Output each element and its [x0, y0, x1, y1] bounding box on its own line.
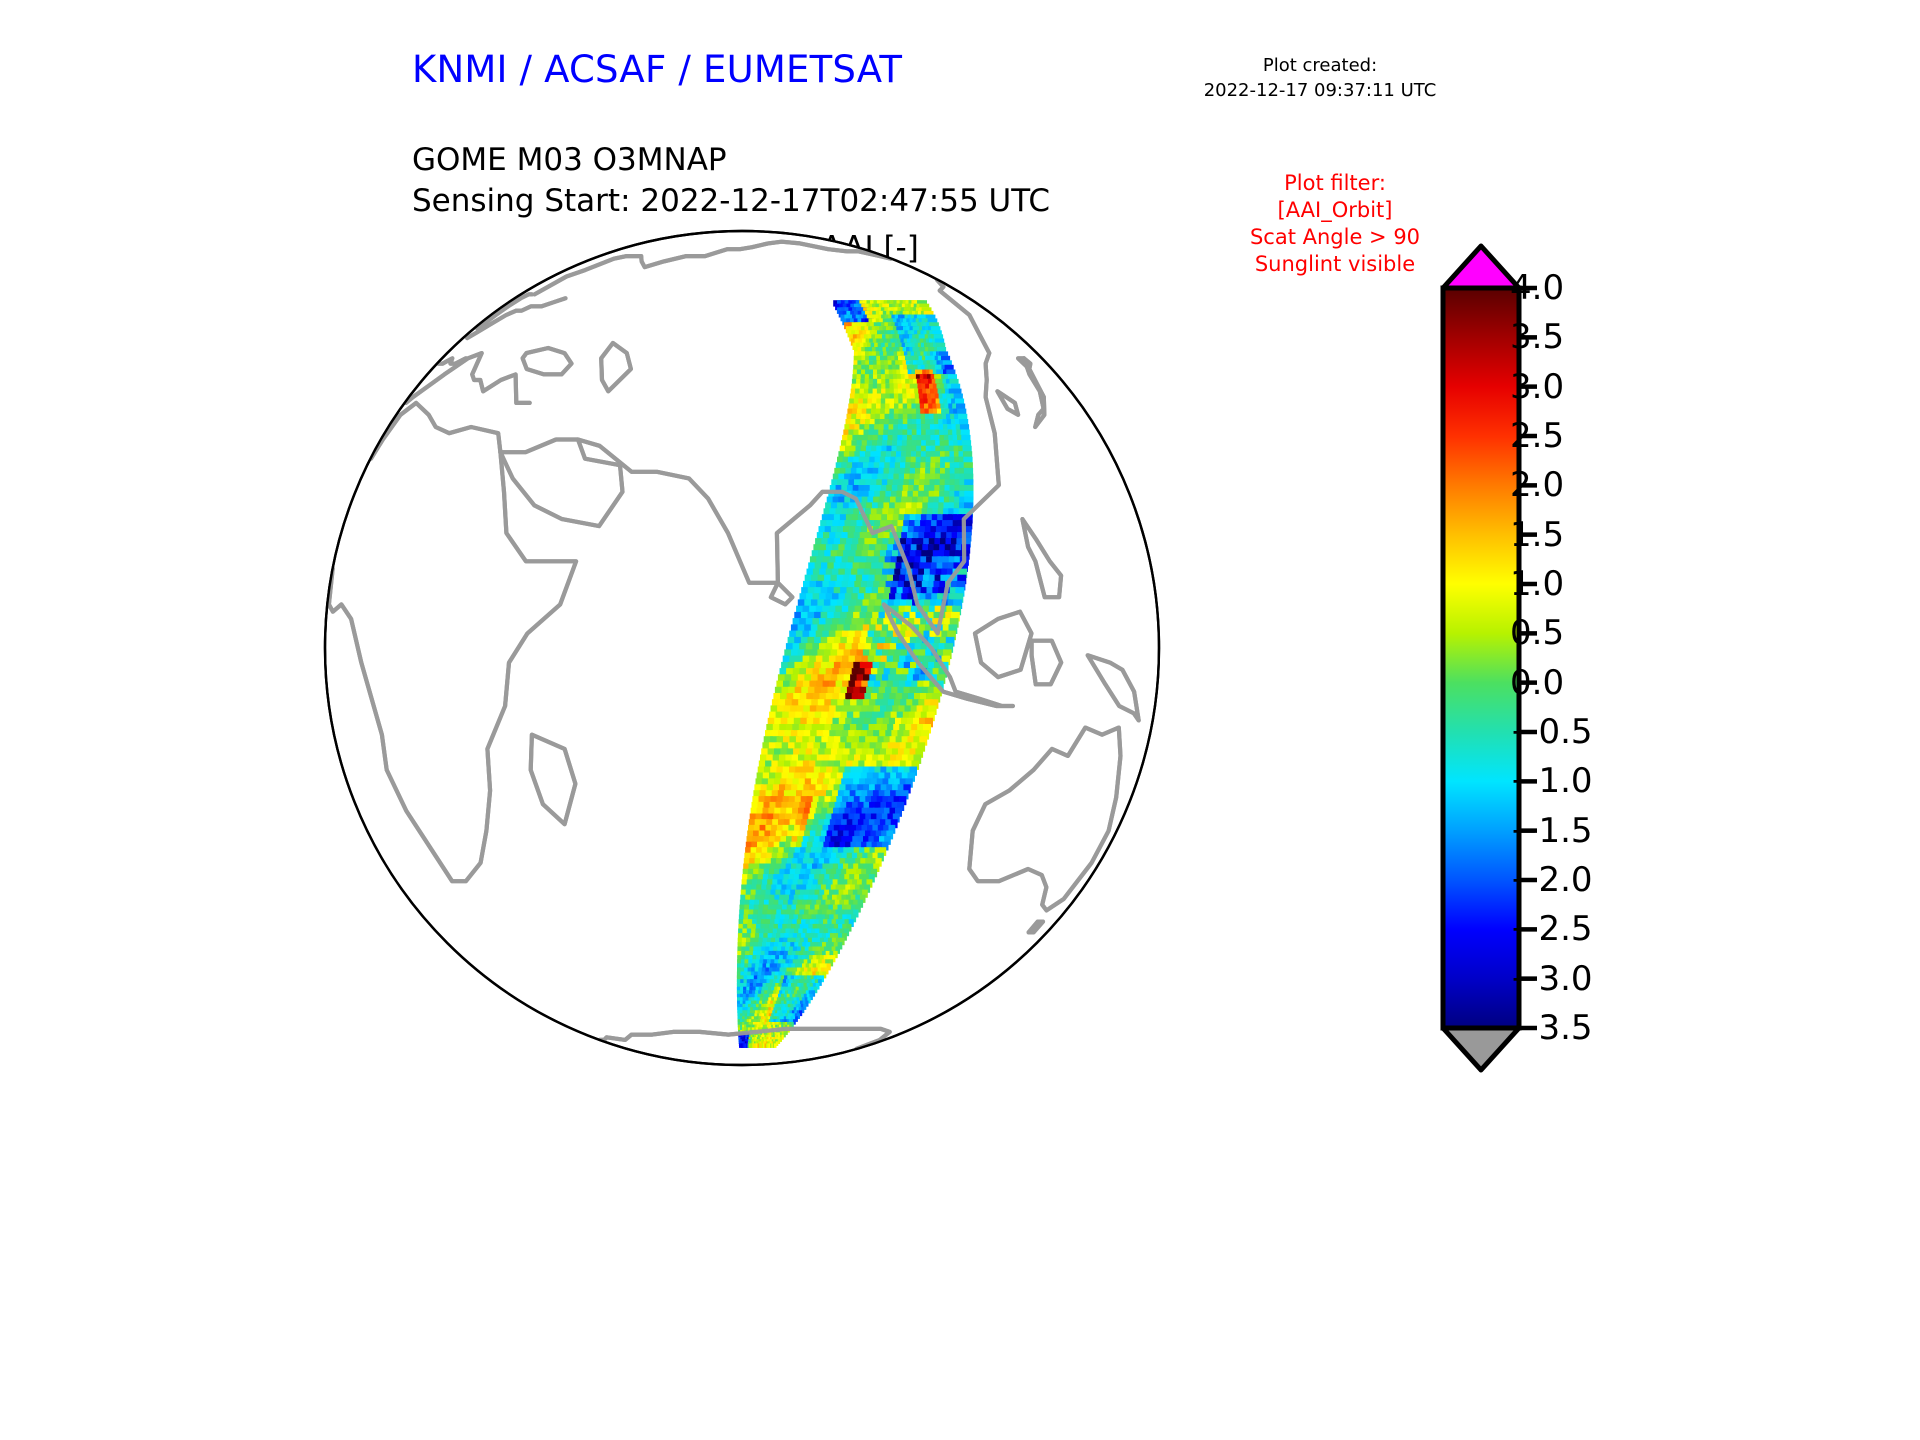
- colorbar-tick-label: −2.0: [1510, 863, 1593, 897]
- colorbar-tick-label: −3.5: [1510, 1011, 1593, 1045]
- colorbar-tick-label: 1.5: [1510, 518, 1564, 552]
- swath-pixel: [784, 1032, 786, 1037]
- colorbar-tick-label: 2.5: [1510, 419, 1564, 453]
- colorbar-body: [1443, 288, 1519, 1028]
- colorbar-tick-labels: 4.03.53.02.52.01.51.00.50.0−0.5−1.0−1.5−…: [1510, 240, 1660, 1350]
- globe-map: [310, 215, 1190, 1095]
- colorbar-tick-label: 0.0: [1510, 666, 1564, 700]
- colorbar-tick-label: −1.5: [1510, 814, 1593, 848]
- dataset-block: GOME M03 O3MNAP Sensing Start: 2022-12-1…: [412, 140, 1050, 222]
- colorbar-tick-label: 4.0: [1510, 271, 1564, 305]
- swath-pixel: [774, 1043, 777, 1048]
- dataset-name: GOME M03 O3MNAP: [412, 140, 1050, 181]
- colorbar-tick-label: 2.0: [1510, 468, 1564, 502]
- colorbar-tick-label: 0.5: [1510, 616, 1564, 650]
- globe-map-svg: [310, 215, 1190, 1095]
- colorbar-tick-label: 3.5: [1510, 320, 1564, 354]
- colorbar-tick-label: 3.0: [1510, 370, 1564, 404]
- organisations-title: KNMI / ACSAF / EUMETSAT: [412, 48, 902, 91]
- colorbar-under-arrow: [1443, 1028, 1519, 1070]
- plot-created-block: Plot created: 2022-12-17 09:37:11 UTC: [1160, 53, 1480, 103]
- plot-filter-line-1: [AAI_Orbit]: [1200, 197, 1470, 224]
- colorbar-over-arrow: [1443, 246, 1519, 288]
- colorbar-tick-label: −2.5: [1510, 912, 1593, 946]
- plot-page: KNMI / ACSAF / EUMETSAT Plot created: 20…: [0, 0, 1920, 1440]
- colorbar-tick-label: −1.0: [1510, 764, 1593, 798]
- colorbar-tick-label: −3.0: [1510, 962, 1593, 996]
- colorbar-tick-label: −0.5: [1510, 715, 1593, 749]
- plot-filter-line-0: Plot filter:: [1200, 170, 1470, 197]
- plot-created-timestamp: 2022-12-17 09:37:11 UTC: [1160, 78, 1480, 103]
- colorbar-tick-label: 1.0: [1510, 567, 1564, 601]
- plot-created-label: Plot created:: [1160, 53, 1480, 78]
